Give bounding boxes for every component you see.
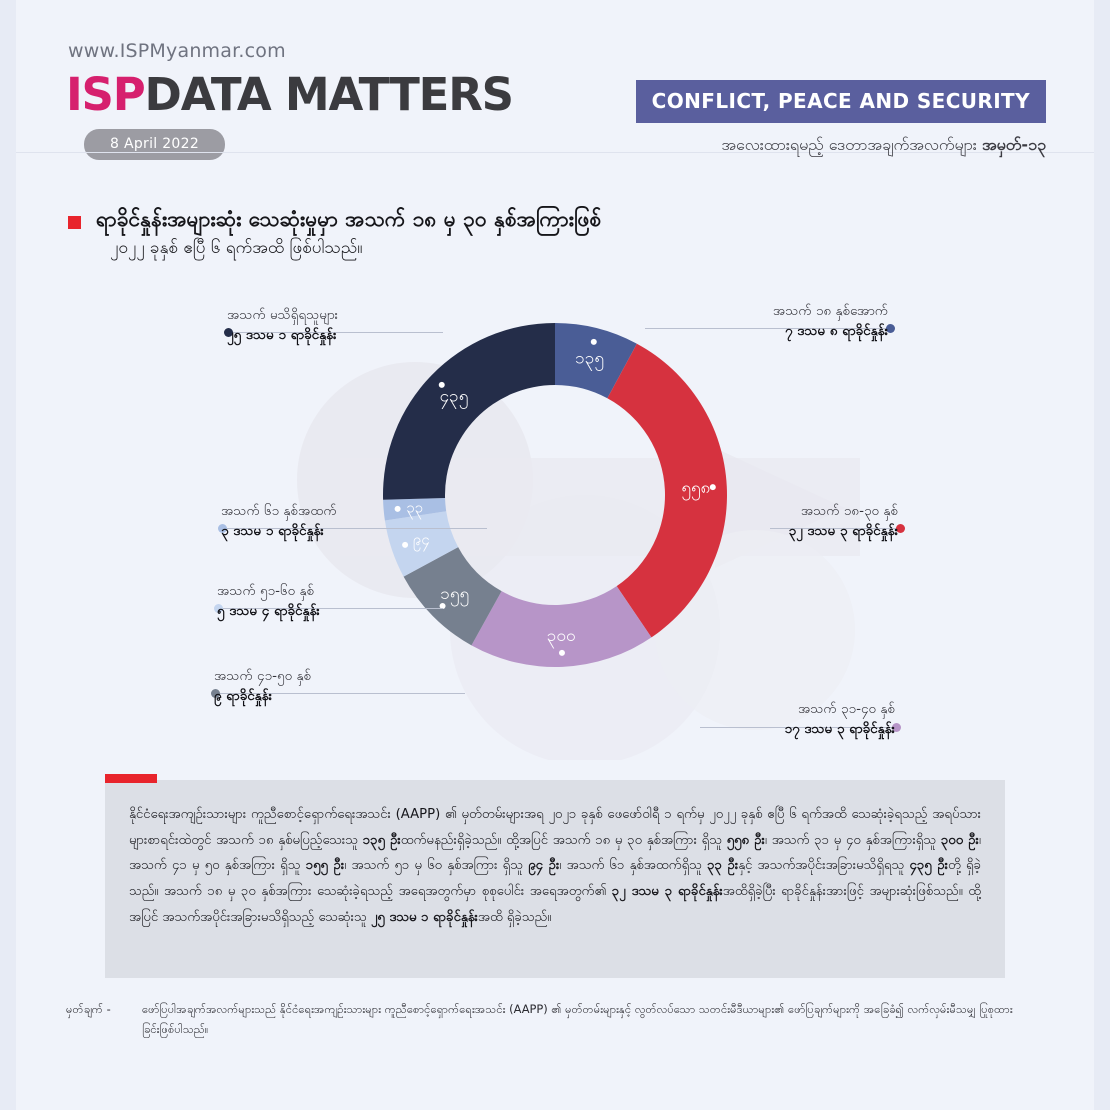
logo-data-matters: DATA MATTERS (145, 68, 513, 121)
page-header: www.ISPMyanmar.com ISPDATA MATTERS 8 Apr… (0, 0, 1110, 175)
callout-percent-18-30: ၃၂ ဒသမ ၃ ရာခိုင်နှုန်း (620, 522, 898, 542)
callout-percent-over61: ၃ ဒသမ ၁ ရာခိုင်နှုန်း (221, 522, 481, 542)
donut-chart-area: ၁၃၅၅၅၈၃၀၀၁၅၅၉၄၃၃၄၃၅ အသက် ၁၈ နှစ်အောက် ၇ … (0, 280, 1110, 770)
logo: ISPDATA MATTERS (66, 68, 513, 121)
donut-value-label-0: ၁၃၅ (575, 348, 604, 371)
right-page-edge (1094, 0, 1110, 1110)
accent-bar (105, 774, 157, 783)
donut-value-label-2: ၃၀၀ (547, 626, 576, 649)
callout-label-unknown: အသက် မသိရှိရသူများ ၂၅ ဒသမ ၁ ရာခိုင်နှုန်… (227, 306, 507, 345)
left-page-edge (0, 0, 16, 1110)
category-subtitle: အလေးထားရမည့် ဒေတာအချက်အလက်များ အမှတ်-၁၃ (721, 134, 1046, 158)
donut-connector-dot-1 (710, 484, 716, 490)
callout-label-31-40: အသက် ၃၁-၄၀ နှစ် ၁၇ ဒသမ ၃ ရာခိုင်နှုန်း (615, 700, 895, 739)
para-bold-3: ၃၀၀ ဦး (941, 833, 979, 848)
footnote: မှတ်ချက် - ဖော်ပြပါအချက်အလက်များသည် နိုင… (66, 1000, 1026, 1040)
para-seg-5: ၊ အသက် ၅၁ မှ ၆၀ နှစ်အကြား ရှိသူ (344, 858, 528, 873)
callout-label-51-60: အသက် ၅၁-၆၀ နှစ် ၅ ဒသမ ၄ ရာခိုင်နှုန်း (217, 582, 477, 621)
donut-value-label-1: ၅၅၈ (681, 478, 710, 501)
issue-number: အမှတ်-၁၃ (982, 135, 1046, 154)
para-bold-5: ၉၄ ဦး (528, 858, 559, 873)
para-seg-7: နှင့် အသက်အပိုင်းအခြားမသိရှိရသူ (738, 858, 909, 873)
callout-percent-41-50: ၉ ရာခိုင်နှုန်း (214, 687, 474, 707)
callout-label-41-50: အသက် ၄၁-၅၀ နှစ် ၉ ရာခိုင်နှုန်း (214, 667, 474, 706)
callout-category-51-60: အသက် ၅၁-၆၀ နှစ် (217, 582, 477, 602)
donut-connector-dot-4 (402, 542, 408, 548)
donut-slice-6[interactable] (383, 323, 555, 500)
callout-category-under18: အသက် ၁၈ နှစ်အောက် (600, 302, 888, 322)
donut-connector-dot-2 (559, 650, 565, 656)
page-title: ရာခိုင်နှုန်းအများဆုံး သေဆုံးမှုမှာ အသက်… (96, 205, 968, 233)
callout-category-41-50: အသက် ၄၁-၅၀ နှစ် (214, 667, 474, 687)
para-seg-3: ၊ အသက် ၃၁ မှ ၄၀ နှစ်အကြားရှိသူ (765, 833, 941, 848)
donut-connector-dot-6 (439, 382, 445, 388)
footnote-label: မှတ်ချက် - (66, 1000, 111, 1020)
donut-connector-dot-0 (591, 339, 597, 345)
site-url: www.ISPMyanmar.com (68, 40, 286, 62)
callout-category-unknown: အသက် မသိရှိရသူများ (227, 306, 507, 326)
callout-percent-under18: ၇ ဒသမ ၈ ရာခိုင်နှုန်း (600, 322, 888, 342)
callout-category-18-30: အသက် ၁၈-၃၀ နှစ် (620, 502, 898, 522)
title-block: ရာခိုင်နှုန်းအများဆုံး သေဆုံးမှုမှာ အသက်… (68, 205, 968, 262)
para-bold-2: ၅၅၈ ဦး (727, 833, 765, 848)
para-seg-10: အထိ ရှိခဲ့သည်။ (478, 910, 552, 925)
callout-percent-51-60: ၅ ဒသမ ၄ ရာခိုင်နှုန်း (217, 602, 477, 622)
para-seg-2: ထက်မနည်းရှိခဲ့သည်။ ထို့အပြင် အသက် ၁၈ မှ … (401, 833, 727, 848)
donut-chart: ၁၃၅၅၅၈၃၀၀၁၅၅၉၄၃၃၄၃၅ (355, 295, 755, 695)
para-bold-8: ၃၂ ဒသမ ၃ ရာခိုင်နှုန်း (612, 884, 723, 899)
para-seg-6: ၊ အသက် ၆၁ နှစ်အထက်ရှိသူ (559, 858, 707, 873)
callout-label-over61: အသက် ၆၁ နှစ်အထက် ၃ ဒသမ ၁ ရာခိုင်နှုန်း (221, 502, 481, 541)
para-bold-7: ၄၃၅ ဦး (909, 858, 948, 873)
publication-date: 8 April 2022 (84, 129, 225, 160)
summary-text-box: နိုင်ငံရေးအကျဉ်းသားများ ကူညီစောင့်ရှောက်… (105, 780, 1005, 978)
callout-percent-unknown: ၂၅ ဒသမ ၁ ရာခိုင်နှုန်း (227, 326, 507, 346)
para-bold-6: ၃၃ ဦး (707, 858, 738, 873)
callout-label-18-30: အသက် ၁၈-၃၀ နှစ် ၃၂ ဒသမ ၃ ရာခိုင်နှုန်း (620, 502, 898, 541)
footnote-body: ဖော်ပြပါအချက်အလက်များသည် နိုင်ငံရေးအကျဉ်… (142, 1000, 1026, 1040)
callout-category-31-40: အသက် ၃၁-၄၀ နှစ် (615, 700, 895, 720)
callout-label-under18: အသက် ၁၈ နှစ်အောက် ၇ ဒသမ ၈ ရာခိုင်နှုန်း (600, 302, 888, 341)
page-subtitle: ၂၀၂၂ ခုနှစ် ဧပြီ ၆ ရက်အထိ ဖြစ်ပါသည်။ (110, 237, 968, 262)
donut-value-label-6: ၄၃၅ (440, 387, 469, 410)
callout-percent-31-40: ၁၇ ဒသမ ၃ ရာခိုင်နှုန်း (615, 720, 895, 740)
para-bold-9: ၂၅ ဒသမ ၁ ရာခိုင်နှုန်း (371, 910, 478, 925)
category-subtitle-text: အလေးထားရမည့် ဒေတာအချက်အလက်များ (721, 135, 982, 154)
category-banner: CONFLICT, PEACE AND SECURITY (636, 80, 1046, 123)
callout-category-over61: အသက် ၆၁ နှစ်အထက် (221, 502, 481, 522)
para-bold-1: ၁၃၅ ဦး (363, 833, 401, 848)
logo-isp: ISP (66, 68, 145, 121)
para-bold-4: ၁၅၅ ဦး (306, 858, 345, 873)
summary-paragraph: နိုင်ငံရေးအကျဉ်းသားများ ကူညီစောင့်ရှောက်… (105, 780, 1005, 931)
title-bullet-icon (68, 216, 81, 229)
